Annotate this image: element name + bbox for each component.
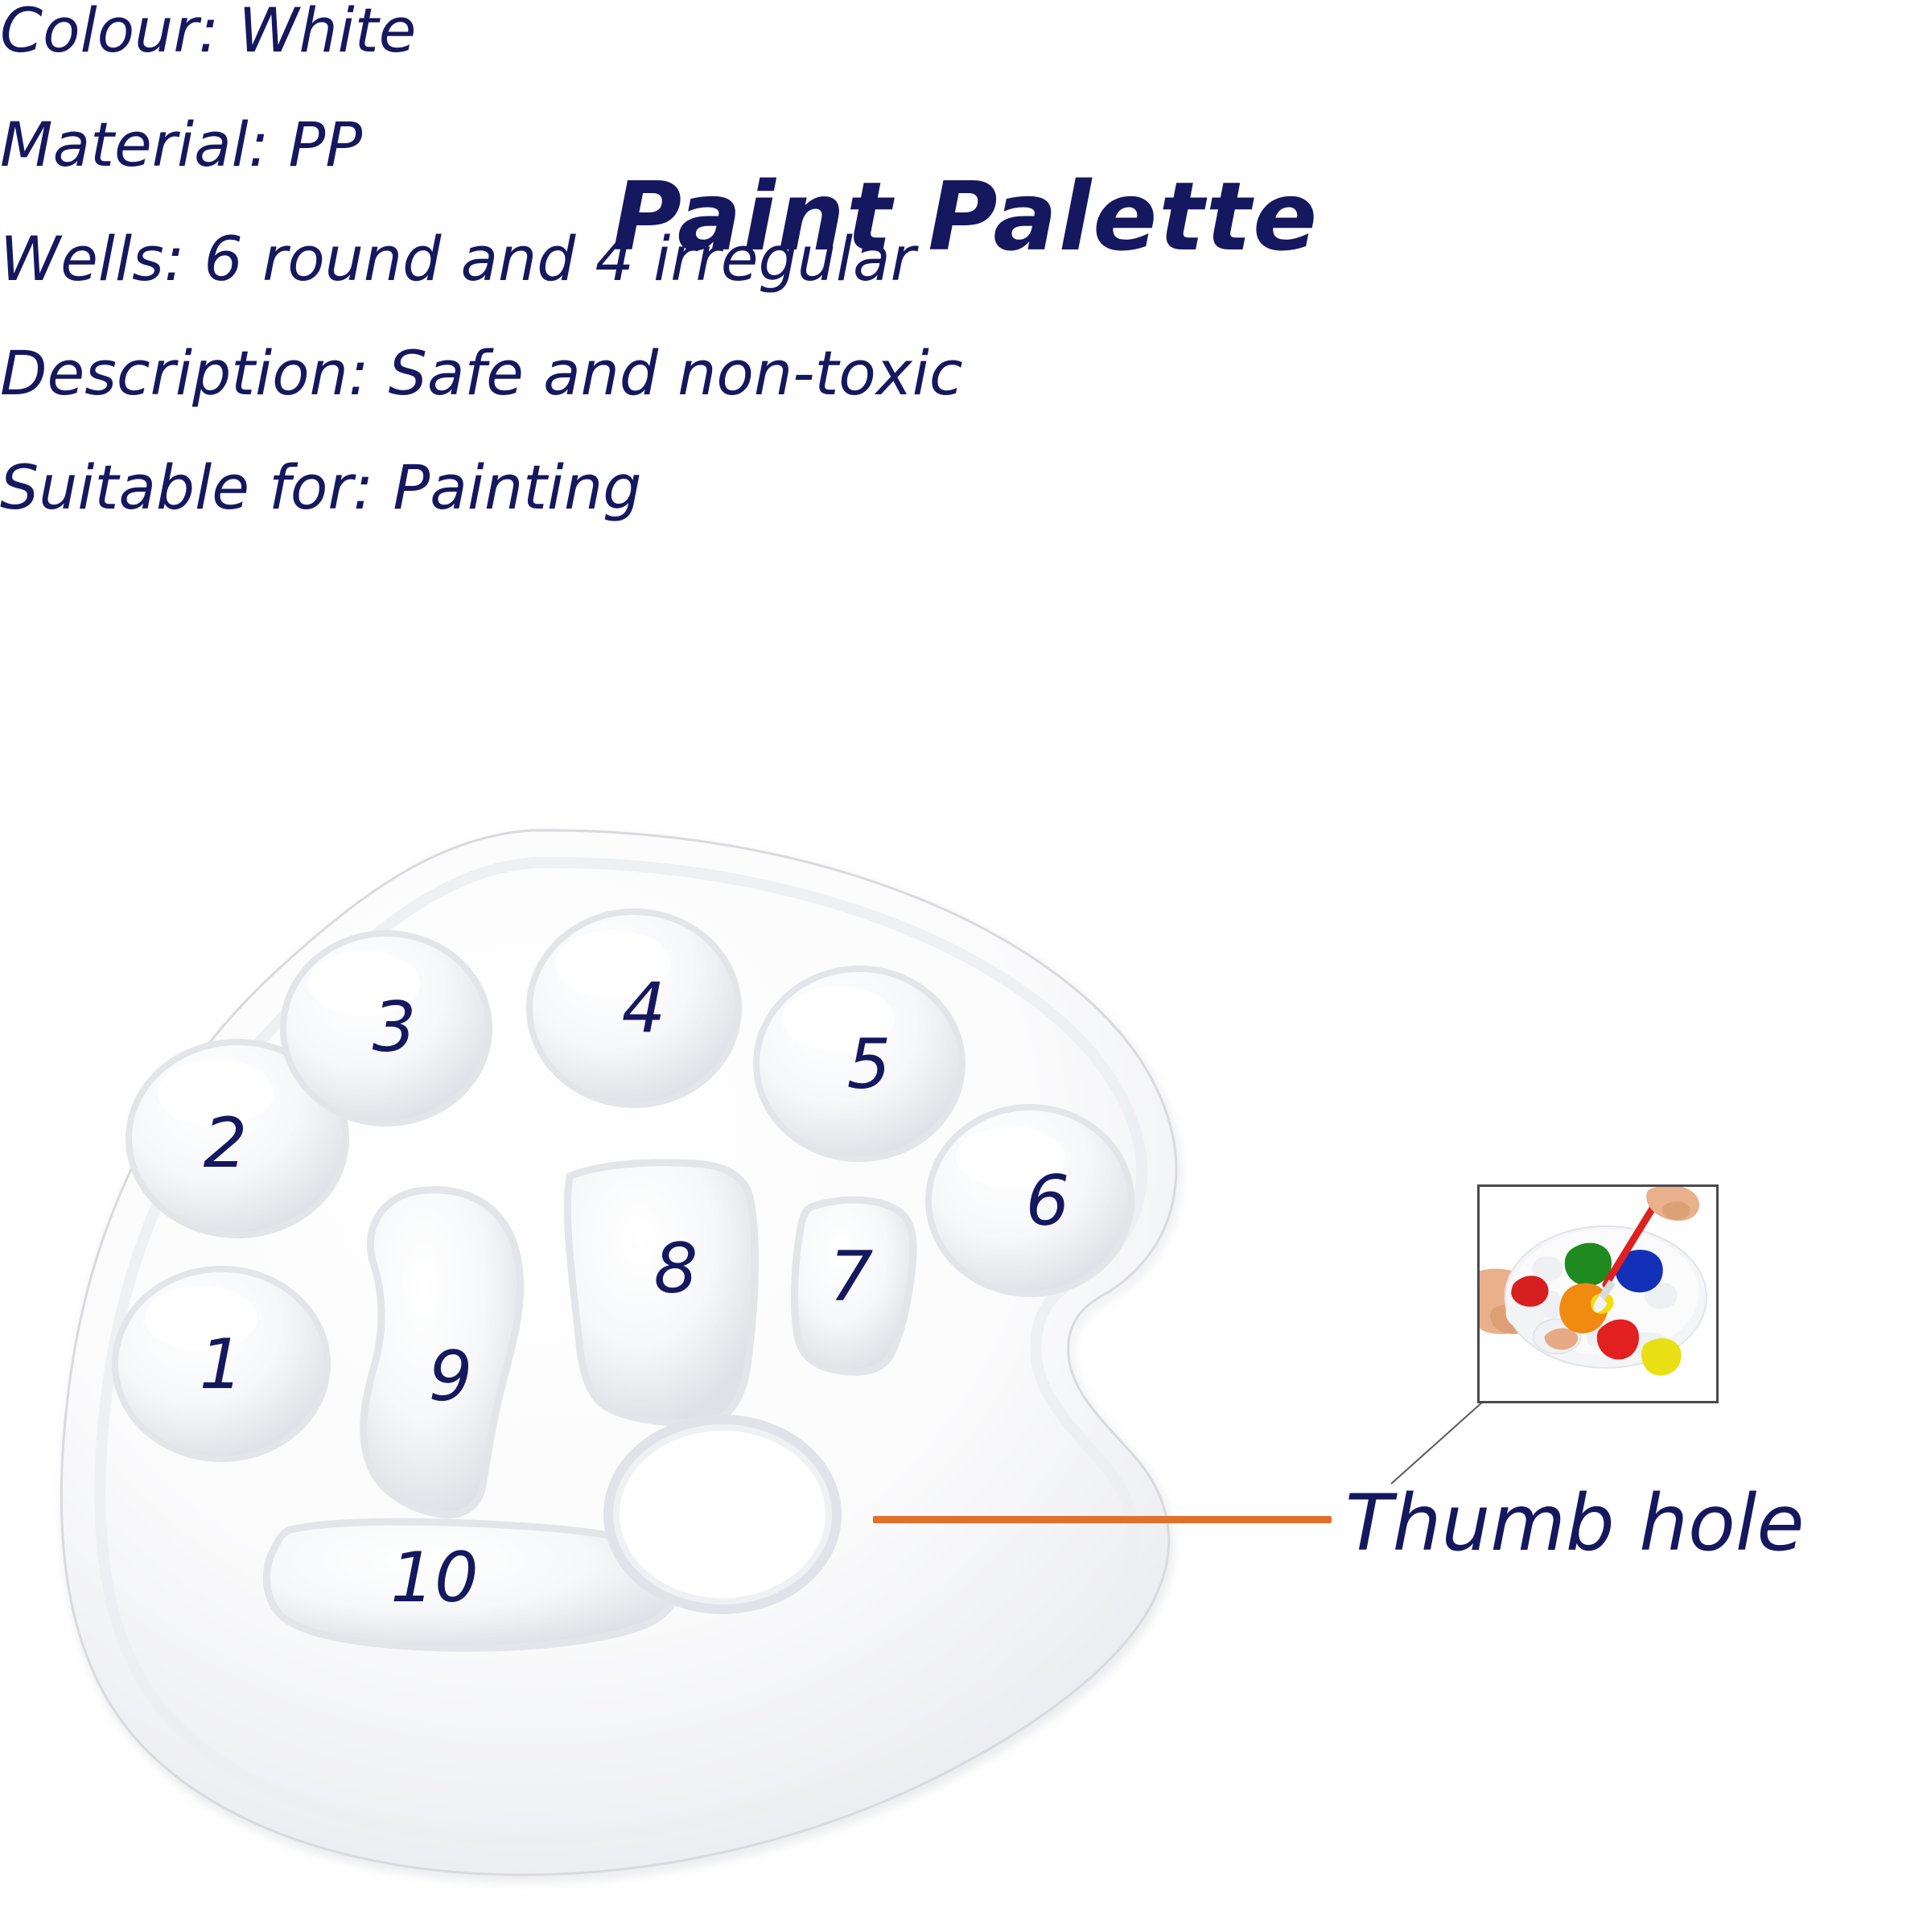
page-title: Paint Palette [0, 169, 1931, 264]
well-number-8: 8 [654, 1229, 698, 1309]
thumb-hole-leader-line [873, 1516, 1332, 1523]
well-number-9: 9 [429, 1337, 473, 1417]
well-number-10: 10 [390, 1538, 478, 1618]
spec-column-right: Wells: 6 round and 4 irregular Descripti… [0, 229, 1931, 518]
spec-suitable-for: Suitable for: Painting [0, 457, 1931, 518]
well-number-3: 3 [373, 987, 417, 1068]
paint-dab-green [1565, 1243, 1612, 1287]
spec-column-left: Colour: White Material: PP [0, 0, 1931, 175]
well-number-1: 1 [200, 1324, 244, 1405]
usage-photo-inset [1477, 1184, 1719, 1403]
palette-illustration: 1 2 3 4 5 6 7 8 9 10 [32, 813, 1255, 1891]
spec-colour: Colour: White [0, 0, 1931, 61]
thumb-hole-label: Thumb hole [1345, 1485, 1805, 1562]
inset-leader-line [1388, 1399, 1484, 1487]
well-number-5: 5 [847, 1024, 891, 1105]
palette-product-photo: 1 2 3 4 5 6 7 8 9 10 [32, 813, 1255, 1891]
well-number-6: 6 [1026, 1161, 1070, 1242]
well-number-7: 7 [830, 1237, 874, 1317]
well-number-4: 4 [622, 968, 666, 1048]
well-number-2: 2 [204, 1103, 248, 1184]
thumb-hole [608, 1419, 837, 1609]
spec-description: Description: Safe and non-toxic [0, 343, 1931, 404]
usage-photo-illustration [1480, 1187, 1716, 1401]
